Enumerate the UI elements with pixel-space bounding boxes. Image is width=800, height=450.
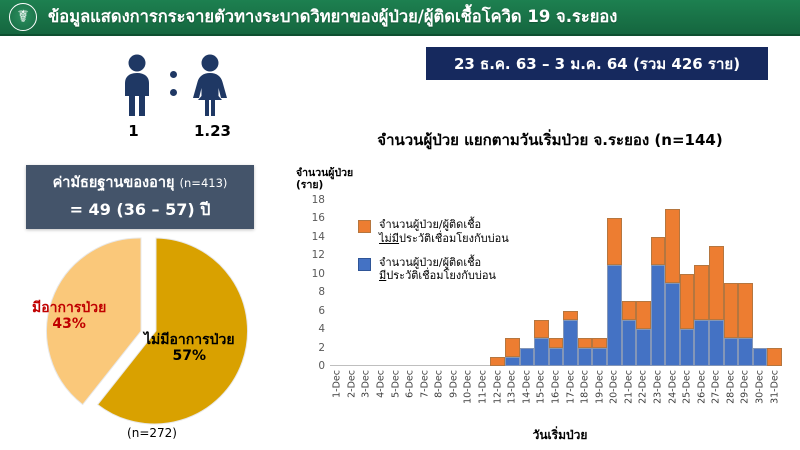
bar-column bbox=[563, 200, 578, 366]
bar-segment-no-gambling-link bbox=[607, 218, 622, 264]
x-axis-tick: 15-Dec bbox=[534, 368, 549, 426]
pie-sample-size: (n=272) bbox=[28, 426, 276, 440]
y-axis-tick: 14 bbox=[312, 231, 325, 243]
bar-segment-has-gambling-link bbox=[563, 320, 578, 366]
x-axis-tick-label: 27-Dec bbox=[711, 370, 722, 404]
x-axis-tick-label: 11-Dec bbox=[478, 370, 489, 404]
x-axis-tick-label: 9-Dec bbox=[448, 370, 459, 398]
bar-column bbox=[694, 200, 709, 366]
x-axis-tick-label: 21-Dec bbox=[623, 370, 634, 404]
legend-line2-rest-blue: ประวัติเชื่อมโยงกับบ่อน bbox=[386, 269, 496, 282]
x-axis-tick-label: 3-Dec bbox=[361, 370, 372, 398]
bar-segment-no-gambling-link bbox=[738, 283, 753, 338]
legend-line2-rest-orange: ประวัติเชื่อมโยงกับบ่อน bbox=[399, 232, 509, 245]
x-axis-tick-label: 6-Dec bbox=[405, 370, 416, 398]
female-figure-icon bbox=[187, 54, 233, 116]
symptom-pie-chart: มีอาการป่วย 43% ไม่มีอาการป่วย 57% bbox=[28, 236, 276, 426]
bar-segment-has-gambling-link bbox=[636, 329, 651, 366]
x-axis-tick: 12-Dec bbox=[490, 368, 505, 426]
date-range-text: 23 ธ.ค. 63 – 3 ม.ค. 64 (รวม 426 ราย) bbox=[454, 52, 740, 76]
female-ratio-value: 1.23 bbox=[190, 122, 236, 140]
x-axis-tick-label: 10-Dec bbox=[463, 370, 474, 404]
x-axis-tick: 1-Dec bbox=[330, 368, 345, 426]
bar-segment-no-gambling-link bbox=[636, 301, 651, 329]
x-axis-tick: 26-Dec bbox=[694, 368, 709, 426]
x-axis-tick: 17-Dec bbox=[563, 368, 578, 426]
x-axis-tick: 13-Dec bbox=[505, 368, 520, 426]
bar-segment-has-gambling-link bbox=[578, 348, 593, 366]
bar-column bbox=[738, 200, 753, 366]
x-axis-tick: 14-Dec bbox=[520, 368, 535, 426]
x-axis-tick: 31-Dec bbox=[767, 368, 782, 426]
page-title: ข้อมูลแสดงการกระจายตัวทางระบาดวิทยาของผู… bbox=[48, 4, 617, 30]
legend-item-no-gambling-link: จำนวนผู้ป่วย/ผู้ติดเชื้อ ไม่มีประวัติเชื… bbox=[358, 218, 509, 246]
male-figure-icon bbox=[114, 54, 160, 116]
ratio-spacer bbox=[167, 122, 180, 140]
bar-segment-has-gambling-link bbox=[549, 348, 564, 366]
x-axis-tick-label: 29-Dec bbox=[740, 370, 751, 404]
bar-chart-y-axis-label: จำนวนผู้ป่วย (ราย) bbox=[296, 168, 353, 192]
bar-segment-no-gambling-link bbox=[622, 301, 637, 319]
bar-column bbox=[549, 200, 564, 366]
x-axis-tick: 27-Dec bbox=[709, 368, 724, 426]
bar-chart-title: จำนวนผู้ป่วย แยกตามวันเริ่มป่วย จ.ระยอง … bbox=[300, 128, 800, 152]
x-axis-tick-label: 28-Dec bbox=[725, 370, 736, 404]
y-axis-label-line2: (ราย) bbox=[296, 179, 323, 191]
x-axis-tick-label: 2-Dec bbox=[346, 370, 357, 398]
x-axis-tick: 16-Dec bbox=[549, 368, 564, 426]
median-age-value: = 49 (36 – 57) ปี bbox=[70, 198, 211, 223]
legend-swatch-orange-icon bbox=[358, 220, 371, 233]
x-axis-tick-label: 30-Dec bbox=[755, 370, 766, 404]
bar-column bbox=[607, 200, 622, 366]
x-axis-tick: 5-Dec bbox=[388, 368, 403, 426]
x-axis-tick-label: 20-Dec bbox=[609, 370, 620, 404]
bar-segment-no-gambling-link bbox=[665, 209, 680, 283]
x-axis-tick: 23-Dec bbox=[651, 368, 666, 426]
bar-column bbox=[767, 200, 782, 366]
pie-slice-name-symptomatic: มีอาการป่วย bbox=[32, 300, 106, 316]
date-range-banner: 23 ธ.ค. 63 – 3 ม.ค. 64 (รวม 426 ราย) bbox=[426, 47, 768, 80]
male-ratio-value: 1 bbox=[111, 122, 157, 140]
bar-column bbox=[753, 200, 768, 366]
bar-segment-no-gambling-link bbox=[549, 338, 564, 347]
bar-column bbox=[345, 200, 360, 366]
x-axis-tick: 25-Dec bbox=[680, 368, 695, 426]
x-axis-tick-label: 22-Dec bbox=[638, 370, 649, 404]
bar-column bbox=[330, 200, 345, 366]
x-axis-tick-label: 5-Dec bbox=[390, 370, 401, 398]
x-axis-tick-label: 1-Dec bbox=[332, 370, 343, 398]
x-axis-tick-label: 14-Dec bbox=[521, 370, 532, 404]
x-axis-tick: 19-Dec bbox=[592, 368, 607, 426]
y-axis-tick: 16 bbox=[312, 212, 325, 224]
bar-segment-no-gambling-link bbox=[680, 274, 695, 329]
x-axis-tick: 18-Dec bbox=[578, 368, 593, 426]
x-axis-tick: 7-Dec bbox=[417, 368, 432, 426]
x-axis-tick: 30-Dec bbox=[753, 368, 768, 426]
x-axis-tick: 9-Dec bbox=[447, 368, 462, 426]
bar-column bbox=[534, 200, 549, 366]
bar-segment-has-gambling-link bbox=[607, 265, 622, 366]
bar-segment-has-gambling-link bbox=[709, 320, 724, 366]
ministry-of-public-health-emblem-icon: ☤ bbox=[9, 3, 37, 31]
x-axis-tick: 24-Dec bbox=[665, 368, 680, 426]
gender-ratio-values: 1 1.23 bbox=[88, 122, 258, 140]
y-axis-tick: 2 bbox=[318, 342, 325, 354]
x-axis-tick: 8-Dec bbox=[432, 368, 447, 426]
bar-column bbox=[592, 200, 607, 366]
bar-segment-no-gambling-link bbox=[505, 338, 520, 356]
bar-column bbox=[709, 200, 724, 366]
x-axis-tick: 28-Dec bbox=[724, 368, 739, 426]
x-axis-tick-label: 16-Dec bbox=[550, 370, 561, 404]
x-axis-tick: 11-Dec bbox=[476, 368, 491, 426]
bar-segment-no-gambling-link bbox=[578, 338, 593, 347]
bar-segment-no-gambling-link bbox=[694, 265, 709, 320]
bar-segment-has-gambling-link bbox=[592, 348, 607, 366]
bar-segment-no-gambling-link bbox=[709, 246, 724, 320]
y-axis-label-line1: จำนวนผู้ป่วย bbox=[296, 167, 353, 179]
x-axis-tick: 29-Dec bbox=[738, 368, 753, 426]
x-axis-tick-label: 23-Dec bbox=[653, 370, 664, 404]
pie-slice-value-symptomatic: 43% bbox=[52, 316, 86, 332]
bar-segment-has-gambling-link bbox=[534, 338, 549, 366]
gender-ratio-block: 1 1.23 bbox=[88, 46, 258, 156]
x-axis-tick: 3-Dec bbox=[359, 368, 374, 426]
x-axis-tick: 6-Dec bbox=[403, 368, 418, 426]
bar-column bbox=[636, 200, 651, 366]
y-axis-tick: 0 bbox=[318, 360, 325, 372]
bar-segment-has-gambling-link bbox=[505, 357, 520, 366]
bar-segment-no-gambling-link bbox=[767, 348, 782, 366]
y-axis-tick: 10 bbox=[312, 268, 325, 280]
bar-segment-has-gambling-link bbox=[738, 338, 753, 366]
x-axis-tick-label: 31-Dec bbox=[769, 370, 780, 404]
x-axis-tick-label: 18-Dec bbox=[580, 370, 591, 404]
x-axis-tick-label: 12-Dec bbox=[492, 370, 503, 404]
x-axis-tick-label: 26-Dec bbox=[696, 370, 707, 404]
y-axis-tick: 4 bbox=[318, 323, 325, 335]
bar-segment-has-gambling-link bbox=[665, 283, 680, 366]
x-axis-tick-label: 8-Dec bbox=[434, 370, 445, 398]
median-age-card: ค่ามัธยฐานของอายุ (n=413) = 49 (36 – 57)… bbox=[26, 165, 254, 229]
legend-label-no-gambling-link: จำนวนผู้ป่วย/ผู้ติดเชื้อ ไม่มีประวัติเชื… bbox=[379, 218, 509, 246]
bar-segment-has-gambling-link bbox=[622, 320, 637, 366]
bar-segment-has-gambling-link bbox=[520, 348, 535, 366]
x-axis-tick: 22-Dec bbox=[636, 368, 651, 426]
logo-container: ☤ bbox=[6, 0, 40, 34]
bar-segment-has-gambling-link bbox=[680, 329, 695, 366]
bar-column bbox=[651, 200, 666, 366]
x-axis-tick-label: 19-Dec bbox=[594, 370, 605, 404]
x-axis-tick-label: 4-Dec bbox=[376, 370, 387, 398]
bar-column bbox=[520, 200, 535, 366]
bar-chart-x-axis-label: วันเริ่มป่วย bbox=[450, 426, 670, 445]
bar-segment-no-gambling-link bbox=[592, 338, 607, 347]
pie-slice-name-asymptomatic: ไม่มีอาการป่วย bbox=[144, 332, 235, 348]
bar-column bbox=[724, 200, 739, 366]
bar-column bbox=[622, 200, 637, 366]
x-axis-tick-label: 25-Dec bbox=[682, 370, 693, 404]
page-header: ☤ ข้อมูลแสดงการกระจายตัวทางระบาดวิทยาของ… bbox=[0, 0, 800, 36]
median-age-label: ค่ามัธยฐานของอายุ (n=413) bbox=[53, 171, 228, 194]
bar-segment-no-gambling-link bbox=[534, 320, 549, 338]
pie-slice-label-symptomatic: มีอาการป่วย 43% bbox=[32, 300, 106, 332]
y-axis-tick: 6 bbox=[318, 305, 325, 317]
x-axis-tick: 21-Dec bbox=[622, 368, 637, 426]
bar-column bbox=[680, 200, 695, 366]
x-axis-tick-label: 15-Dec bbox=[536, 370, 547, 404]
gender-figures bbox=[88, 46, 258, 116]
median-age-label-text: ค่ามัธยฐานของอายุ bbox=[53, 175, 175, 191]
legend-line1-blue: จำนวนผู้ป่วย/ผู้ติดเชื้อ bbox=[379, 256, 481, 269]
bar-column bbox=[665, 200, 680, 366]
x-axis-tick-label: 24-Dec bbox=[667, 370, 678, 404]
y-axis-tick: 12 bbox=[312, 249, 325, 261]
bar-segment-no-gambling-link bbox=[724, 283, 739, 338]
x-axis-tick-label: 13-Dec bbox=[507, 370, 518, 404]
bar-segment-no-gambling-link bbox=[651, 237, 666, 265]
legend-line2-underlined-orange: ไม่มี bbox=[379, 232, 399, 245]
bar-chart-legend: จำนวนผู้ป่วย/ผู้ติดเชื้อ ไม่มีประวัติเชื… bbox=[358, 218, 509, 293]
ratio-separator-icon bbox=[170, 71, 177, 116]
y-axis-tick: 8 bbox=[318, 286, 325, 298]
bar-segment-has-gambling-link bbox=[651, 265, 666, 366]
bar-segment-has-gambling-link bbox=[694, 320, 709, 366]
x-axis-tick-label: 7-Dec bbox=[419, 370, 430, 398]
y-axis-tick: 18 bbox=[312, 194, 325, 206]
x-axis-ticks: 1-Dec2-Dec3-Dec4-Dec5-Dec6-Dec7-Dec8-Dec… bbox=[330, 368, 782, 426]
bar-segment-no-gambling-link bbox=[563, 311, 578, 320]
bar-column bbox=[578, 200, 593, 366]
pie-slice-value-asymptomatic: 57% bbox=[173, 348, 207, 364]
x-axis-tick-label: 17-Dec bbox=[565, 370, 576, 404]
bar-segment-has-gambling-link bbox=[753, 348, 768, 366]
x-axis-tick: 4-Dec bbox=[374, 368, 389, 426]
bar-segment-no-gambling-link bbox=[490, 357, 505, 366]
bar-segment-has-gambling-link bbox=[724, 338, 739, 366]
legend-swatch-blue-icon bbox=[358, 258, 371, 271]
x-axis-tick: 10-Dec bbox=[461, 368, 476, 426]
median-age-sample-size: (n=413) bbox=[180, 176, 228, 190]
x-axis-tick: 2-Dec bbox=[345, 368, 360, 426]
pie-slice-label-asymptomatic: ไม่มีอาการป่วย 57% bbox=[144, 332, 235, 364]
legend-line1-orange: จำนวนผู้ป่วย/ผู้ติดเชื้อ bbox=[379, 218, 481, 231]
legend-item-has-gambling-link: จำนวนผู้ป่วย/ผู้ติดเชื้อ มีประวัติเชื่อม… bbox=[358, 256, 509, 284]
x-axis-tick: 20-Dec bbox=[607, 368, 622, 426]
legend-label-has-gambling-link: จำนวนผู้ป่วย/ผู้ติดเชื้อ มีประวัติเชื่อม… bbox=[379, 256, 496, 284]
